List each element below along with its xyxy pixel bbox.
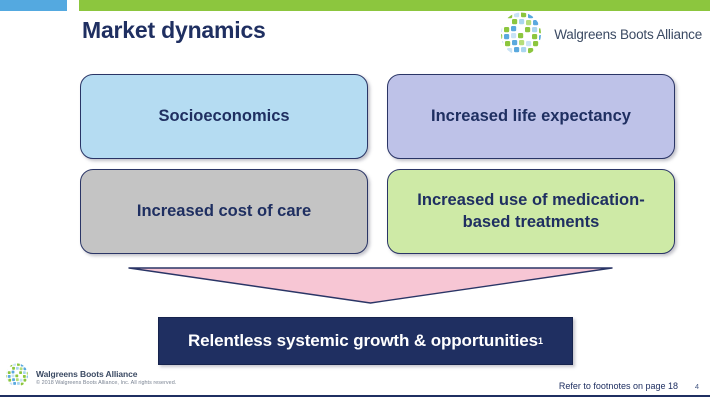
- driver-box-life-expectancy: Increased life expectancy: [387, 74, 675, 159]
- driver-box-medication-treatments: Increased use of medication-based treatm…: [387, 169, 675, 254]
- walgreens-globe-icon-footer: [4, 363, 30, 392]
- top-accent-bar-green: [79, 0, 710, 11]
- footer-divider: [0, 395, 710, 397]
- top-accent-bar-blue: [0, 0, 67, 11]
- driver-box-cost-of-care: Increased cost of care: [80, 169, 368, 254]
- driver-box-label: Socioeconomics: [158, 106, 289, 128]
- walgreens-globe-icon: [497, 12, 545, 56]
- brand-lockup-footer: Walgreens Boots Alliance © 2018 Walgreen…: [4, 363, 176, 392]
- conclusion-footnote-marker: 1: [538, 336, 543, 346]
- copyright-text: © 2018 Walgreens Boots Alliance, Inc. Al…: [36, 380, 176, 386]
- footer-brand-text-stack: Walgreens Boots Alliance © 2018 Walgreen…: [36, 369, 176, 386]
- driver-box-group: Socioeconomics Increased life expectancy…: [80, 74, 675, 254]
- conclusion-text: Relentless systemic growth & opportuniti…: [188, 331, 538, 351]
- driver-box-label: Increased cost of care: [137, 201, 311, 223]
- footnote-reference: Refer to footnotes on page 18: [559, 381, 678, 391]
- brand-lockup-header: Walgreens Boots Alliance: [497, 12, 702, 56]
- page-number: 4: [695, 382, 699, 391]
- driver-box-socioeconomics: Socioeconomics: [80, 74, 368, 159]
- conclusion-banner: Relentless systemic growth & opportuniti…: [158, 317, 573, 365]
- driver-box-label: Increased life expectancy: [431, 106, 631, 128]
- brand-name-footer: Walgreens Boots Alliance: [36, 369, 176, 379]
- brand-name-header: Walgreens Boots Alliance: [554, 27, 702, 42]
- driver-box-label: Increased use of medication-based treatm…: [402, 190, 660, 234]
- funnel-arrow-shape: [128, 266, 613, 306]
- page-title: Market dynamics: [82, 17, 266, 44]
- slide-canvas: Market dynamics: [0, 0, 710, 400]
